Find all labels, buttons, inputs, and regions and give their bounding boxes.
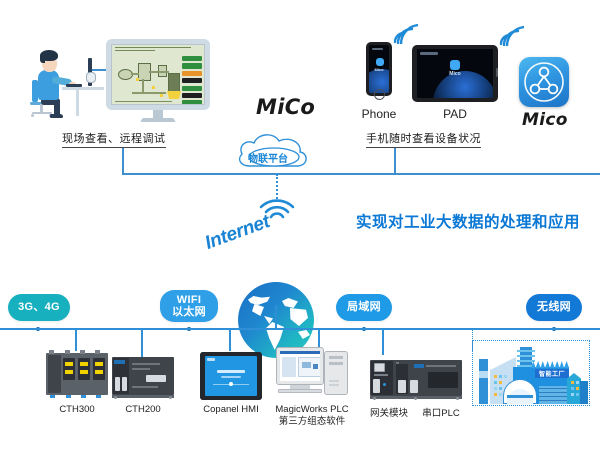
scada-header: [115, 47, 201, 54]
factory-window: [576, 393, 579, 396]
plc-text-1: [426, 365, 456, 367]
plc-screw-1: [373, 397, 376, 400]
phone-home-button: [374, 89, 385, 100]
factory-window: [504, 375, 507, 378]
phone-statusbar: [372, 48, 383, 50]
scada-indicator-3: [160, 94, 163, 97]
scada-indicator-1: [136, 78, 139, 81]
monitor-base: [140, 118, 176, 122]
pc-monitor: [276, 347, 324, 385]
cth300-foot-2: [66, 395, 71, 398]
pill-wifi-label-1: WIFI: [177, 294, 201, 307]
label-cth300: CTH300: [46, 404, 108, 416]
mico-logo-glyph-icon: [519, 57, 569, 107]
pc-window-titlebar: [280, 351, 320, 354]
factory-tower-rung-2: [517, 355, 535, 357]
monitor-screen: [111, 44, 205, 105]
scada-status-buttons: [182, 56, 202, 105]
cloud-iot-platform: 物联平台: [234, 128, 318, 168]
pc-tower-vent-2: [329, 384, 339, 386]
plc-terminal-1: [398, 380, 406, 393]
cth200-screw-1: [114, 396, 117, 399]
cth200-base: [112, 395, 174, 398]
factory-window: [499, 393, 502, 396]
pill-lan-network[interactable]: 局域网: [336, 294, 392, 321]
connector-drop-gateway: [382, 329, 384, 355]
pad-app-name: Mico: [417, 71, 493, 77]
cth200-text-2: [132, 368, 150, 370]
connector-globe-to-bus: [275, 305, 277, 330]
connector-top-bus: [122, 173, 600, 175]
factory-window: [494, 387, 497, 390]
cth300-port-1: [65, 362, 73, 366]
label-copanel-hmi: Copanel HMI: [191, 404, 271, 416]
pill-mobile-network[interactable]: 3G、4G: [8, 294, 70, 321]
device-magicworks-pc: [276, 345, 346, 400]
gateway-led: [383, 383, 386, 386]
cth200-logo: [114, 360, 125, 364]
cth300-foot-1: [50, 395, 55, 398]
smart-factory-illustration: 智能工厂: [472, 340, 590, 406]
cth300-port-4: [80, 370, 88, 374]
plc-logo: [414, 364, 424, 368]
desk-leg: [76, 90, 79, 116]
factory-window: [571, 381, 574, 384]
factory-window: [576, 387, 579, 390]
cth200-text-1: [132, 363, 160, 365]
cth300-tab-3: [80, 350, 85, 354]
label-magicworks-line2: 第三方组态软件: [268, 416, 356, 428]
plc-screw-2: [414, 397, 417, 400]
hmi-screen: [205, 356, 257, 396]
device-pad: Mico: [412, 45, 498, 102]
cth200-terminal-2: [122, 377, 127, 391]
land-asia: [298, 330, 310, 339]
cth200-terminal-1: [115, 377, 120, 391]
brand-mico-large: MiCo: [256, 95, 315, 119]
label-serial-plc: 串口PLC: [416, 408, 466, 420]
factory-window: [494, 393, 497, 396]
factory-shutter-line-2: [539, 392, 567, 393]
pill-wireless-network[interactable]: 无线网: [526, 294, 582, 321]
land-europe: [282, 298, 298, 308]
factory-shutter-line-3: [539, 396, 567, 397]
connector-drop-hmi: [229, 329, 231, 351]
connector-drop-cth300: [75, 329, 77, 351]
pad-statusbar: [420, 52, 438, 55]
cth300-foot-4: [96, 395, 101, 398]
pc-keyboard: [278, 389, 322, 393]
connector-drop-cth200: [141, 329, 143, 357]
hmi-logo: [207, 358, 215, 361]
label-magicworks: MagicWorks PLC 第三方组态软件: [268, 404, 356, 428]
land-na-lower: [252, 304, 264, 316]
pad-app-icon: [450, 60, 460, 70]
iot-topology-diagram: 现场查看、远程调试 MiCo 物联平台 Mico Phone: [0, 0, 600, 450]
gateway-text: [374, 374, 388, 376]
keyboard: [66, 84, 82, 87]
scada-pipe-2: [149, 71, 169, 73]
pill-wifi-network[interactable]: WIFI 以太网: [160, 290, 218, 322]
scada-pipe-3: [142, 79, 144, 93]
device-gateway-plc: [370, 358, 462, 400]
chair-wheel-left: [31, 114, 34, 117]
illustration-operator: [28, 42, 106, 124]
scada-footer: [115, 101, 172, 102]
connector-bottom-bus: [0, 328, 600, 330]
scada-indicator-2: [152, 86, 155, 89]
phone-app-icon: [376, 58, 384, 66]
scada-vessel-3: [168, 73, 180, 93]
factory-chimney-band: [479, 371, 488, 378]
factory-window: [494, 375, 497, 378]
factory-tower-rung-1: [517, 350, 535, 352]
factory-dome-band: [507, 395, 533, 398]
brand-mico-app-label: Mico: [522, 110, 568, 130]
desk-top: [62, 87, 104, 90]
cth300-tab-4: [95, 350, 100, 354]
scada-pipe-1: [131, 73, 139, 75]
label-phone: Phone: [356, 107, 402, 121]
label-magicworks-line1: MagicWorks PLC: [268, 404, 356, 416]
hmi-title: [217, 370, 245, 373]
land-north-america: [248, 296, 270, 305]
factory-shutter-line-1: [539, 388, 567, 389]
pad-home-button: [496, 68, 498, 77]
factory-sign: 智能工厂: [535, 369, 569, 378]
pc-panel-left: [282, 357, 296, 377]
hmi-dot: [229, 382, 233, 386]
phone-screen: Mico: [369, 45, 389, 93]
land-africa: [288, 308, 308, 326]
device-cth300: [46, 350, 108, 400]
gateway-terminal-1: [373, 379, 380, 393]
connector-left-drop: [122, 148, 124, 174]
plc-terminal-2: [410, 380, 418, 393]
device-copanel-hmi: [200, 352, 262, 400]
caption-right: 手机随时查看设备状况: [366, 130, 481, 148]
wifi-signal-pad-icon: [498, 26, 524, 46]
cth200-text-3: [132, 386, 158, 388]
label-gateway: 网关模块: [364, 408, 414, 420]
cth300-port-6: [95, 370, 103, 374]
label-pad: PAD: [432, 107, 478, 121]
headline-text: 实现对工业大数据的处理和应用: [356, 210, 580, 232]
monitor-bezel: [106, 39, 210, 110]
device-phone: Mico: [366, 42, 392, 96]
device-cth200: [112, 357, 174, 400]
gateway-ethernet-port: [374, 363, 385, 372]
hmi-subtitle: [221, 376, 241, 378]
pill-wifi-label-2: 以太网: [172, 306, 206, 319]
pill-lan-label: 局域网: [347, 301, 381, 314]
pc-screen: [280, 351, 320, 381]
cth300-cpu-module: [48, 355, 61, 393]
pc-tower-vent: [329, 380, 339, 382]
wifi-signal-phone-icon: [392, 24, 418, 44]
scada-monitor: [106, 39, 210, 125]
factory-chimney: [479, 359, 488, 404]
mico-app-icon: [519, 57, 569, 107]
factory-window: [499, 381, 502, 384]
factory-tower-rung-3: [517, 360, 535, 362]
factory-window: [499, 375, 502, 378]
scada-hopper: [167, 91, 181, 99]
pill-mobile-label: 3G、4G: [18, 301, 60, 314]
pc-tower-drive-1: [329, 356, 343, 359]
phone-app-name: Mico: [369, 67, 389, 72]
factory-window: [494, 381, 497, 384]
pc-tower: [324, 351, 348, 395]
connector-right-drop: [394, 148, 396, 174]
label-cth200: CTH200: [112, 404, 174, 416]
plc-screw-3: [456, 397, 459, 400]
factory-window: [576, 381, 579, 384]
cth300-foot-3: [81, 395, 86, 398]
pc-graphic-1: [302, 362, 311, 368]
factory-shutter-line-4: [539, 400, 567, 401]
pc-graphic-2: [313, 364, 318, 369]
cth300-tab-1: [49, 350, 54, 354]
monitor-neck: [153, 110, 163, 119]
factory-window: [499, 387, 502, 390]
factory-building-far-right: [580, 381, 588, 404]
cloud-label: 物联平台: [248, 150, 288, 165]
pill-wireless-label: 无线网: [537, 301, 571, 314]
hair-side: [40, 54, 45, 63]
shoe: [50, 114, 63, 118]
cth200-screw-2: [169, 396, 172, 399]
caption-left: 现场查看、远程调试: [62, 130, 166, 148]
cth300-port-3: [80, 362, 88, 366]
pad-screen: Mico: [417, 49, 493, 98]
cth300-port-2: [65, 370, 73, 374]
factory-window: [571, 393, 574, 396]
label-internet: Internet: [202, 211, 273, 255]
pc-tower-drive-2: [329, 362, 343, 365]
cth300-tab-2: [65, 350, 70, 354]
plc-display: [428, 372, 458, 388]
factory-window: [571, 387, 574, 390]
desk-monitor-light: [86, 72, 96, 83]
torso: [38, 70, 59, 100]
cth200-display: [146, 375, 166, 382]
cth300-port-5: [95, 362, 103, 366]
